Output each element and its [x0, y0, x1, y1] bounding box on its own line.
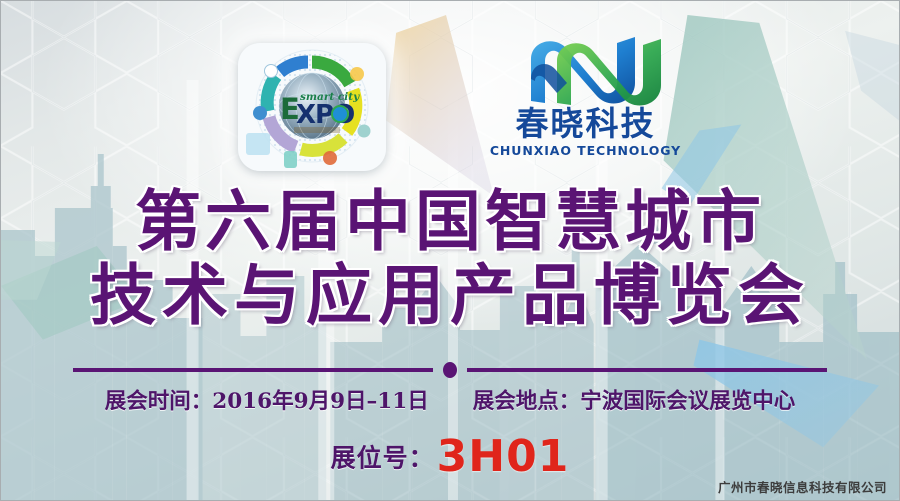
chunxiao-en-name: CHUNXIAO TECHNOLOGY [488, 143, 683, 158]
booth-label: 展位号： [331, 444, 435, 473]
divider-bar-left [73, 368, 433, 372]
event-date: 展会时间：2016年9月9日–11日 [105, 384, 429, 415]
chunxiao-technology-logo[interactable]: 春晓科技 CHUNXIAO TECHNOLOGY [488, 31, 683, 173]
poster-title: 第六届中国智慧城市 技术与应用产品博览会 [1, 184, 899, 332]
light-ray-overlay [1, 1, 899, 500]
chunxiao-mark-icon [497, 31, 675, 109]
divider-bar-right [467, 368, 827, 372]
event-date-label: 展会时间： [105, 389, 213, 414]
booth-number-row: 展位号：3H01 [1, 431, 899, 482]
event-venue-label: 展会地点： [473, 389, 581, 414]
footer-company-name: 广州市春晓信息科技有限公司 [718, 477, 887, 496]
title-line-1: 第六届中国智慧城市 [1, 184, 899, 258]
title-line-2: 技术与应用产品博览会 [1, 258, 899, 332]
event-date-value: 2016年9月9日–11日 [212, 389, 428, 414]
divider-row [73, 362, 827, 378]
chunxiao-cn-name: 春晓科技 [488, 107, 683, 142]
hexagon-pattern-background [1, 1, 899, 500]
booth-number: 3H01 [437, 431, 570, 482]
svg-text:smart city: smart city [300, 91, 360, 103]
divider-dot-icon [443, 362, 457, 378]
expo-poster: E XPO smart city [0, 0, 900, 501]
event-venue-value: 宁波国际会议展览中心 [580, 389, 795, 414]
divider-dot-wrap [433, 362, 467, 378]
smart-city-expo-badge[interactable]: E XPO smart city [238, 43, 386, 171]
event-meta-row: 展会时间：2016年9月9日–11日 展会地点：宁波国际会议展览中心 [1, 384, 899, 415]
event-venue: 展会地点：宁波国际会议展览中心 [473, 384, 796, 415]
